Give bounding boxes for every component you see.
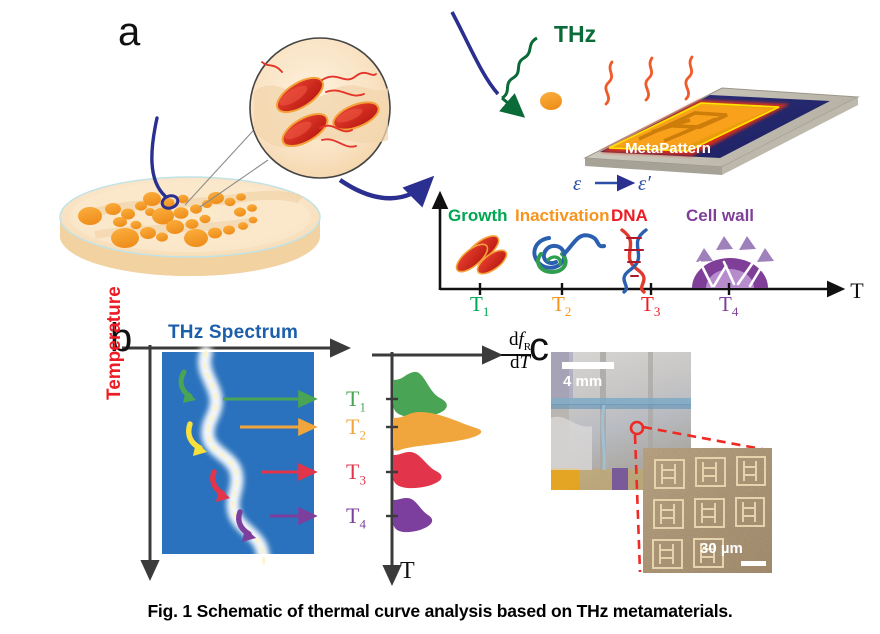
stage-label-cell-wall: Cell wall xyxy=(686,206,754,226)
thz-spectrum-title: THz Spectrum xyxy=(168,322,298,344)
tick-base: T xyxy=(552,292,565,316)
derivative-T: T xyxy=(519,352,530,373)
peak-T1 xyxy=(393,372,447,418)
stage-icon-bacteria xyxy=(452,231,510,278)
stage-label-inactivation: Inactivation xyxy=(515,206,609,226)
marker-base: T xyxy=(346,459,359,484)
flow-arrow-to-chip xyxy=(340,180,428,198)
peak-T3 xyxy=(393,452,442,488)
stage-icon-dna-helix xyxy=(622,230,646,292)
figure-root: MetaPattern THz ε ε′ T xyxy=(0,0,880,634)
tick-sub: 1 xyxy=(483,304,490,319)
marker-label-t4: T4 xyxy=(346,503,366,532)
timeline-tick-label-t2: T2 xyxy=(552,292,571,320)
stage-icon-protein-denature xyxy=(534,235,604,272)
panel-b-group xyxy=(122,345,531,580)
probe-fiber xyxy=(452,12,498,94)
timeline-axis-label: T xyxy=(850,278,864,303)
temperature-axis-label: Temperature xyxy=(104,286,126,400)
timeline-tick-label-t4: T4 xyxy=(719,292,738,320)
panel-c-group: 4 mm xyxy=(551,352,772,573)
tick-base: T xyxy=(470,292,483,316)
epsilon-after: ε′ xyxy=(638,171,651,195)
heat-emission-squiggles xyxy=(606,57,692,104)
marker-sub: 2 xyxy=(359,427,366,442)
tick-base: T xyxy=(641,292,654,316)
marker-base: T xyxy=(346,503,359,528)
marker-base: T xyxy=(346,414,359,439)
permittivity-transition: ε ε′ xyxy=(573,171,651,195)
marker-sub: 4 xyxy=(359,516,366,531)
peak-T4 xyxy=(393,498,432,532)
marker-base: T xyxy=(346,386,359,411)
timeline-tick-label-t1: T1 xyxy=(470,292,489,320)
derivative-peaks xyxy=(393,372,481,532)
photo-scalebar-label: 4 mm xyxy=(563,373,602,390)
figure-caption: Fig. 1 Schematic of thermal curve analys… xyxy=(0,601,880,622)
figure-canvas: MetaPattern THz ε ε′ T xyxy=(0,0,880,634)
stage-label-dna: DNA xyxy=(611,206,648,226)
marker-sub: 1 xyxy=(359,399,366,414)
panel-a-group: MetaPattern THz ε ε′ T xyxy=(60,12,864,303)
thz-label: THz xyxy=(554,21,596,47)
tick-sub: 4 xyxy=(732,304,739,319)
derivative-bottom-axis-label: T xyxy=(400,558,415,585)
derivative-d-numerator: d xyxy=(509,329,519,350)
marker-label-t3: T3 xyxy=(346,459,366,488)
panel-label-a: a xyxy=(118,12,140,52)
chip-label: MetaPattern xyxy=(625,140,711,157)
metapattern-chip: MetaPattern xyxy=(585,88,858,175)
derivative-sub-r: R xyxy=(524,341,531,353)
tick-base: T xyxy=(719,292,732,316)
thz-wave-icon xyxy=(502,38,537,110)
stage-icon-cell-wall xyxy=(692,236,774,288)
tick-sub: 2 xyxy=(565,304,572,319)
peak-T2 xyxy=(393,412,481,451)
derivative-axis-label: dfR dT xyxy=(500,330,540,373)
photo-scalebar xyxy=(562,362,614,369)
marker-sub: 3 xyxy=(359,472,366,487)
tick-sub: 3 xyxy=(654,304,661,319)
epsilon-before: ε xyxy=(573,171,582,195)
inset-scalebar-label: 30 µm xyxy=(700,540,743,557)
timeline-tick-label-t3: T3 xyxy=(641,292,660,320)
sem-micrograph-inset: 30 µm xyxy=(643,448,772,573)
stage-label-growth: Growth xyxy=(448,206,508,226)
marker-label-t1: T1 xyxy=(346,386,366,415)
sample-droplet xyxy=(540,92,562,110)
marker-label-t2: T2 xyxy=(346,414,366,443)
inset-scalebar xyxy=(741,561,766,566)
